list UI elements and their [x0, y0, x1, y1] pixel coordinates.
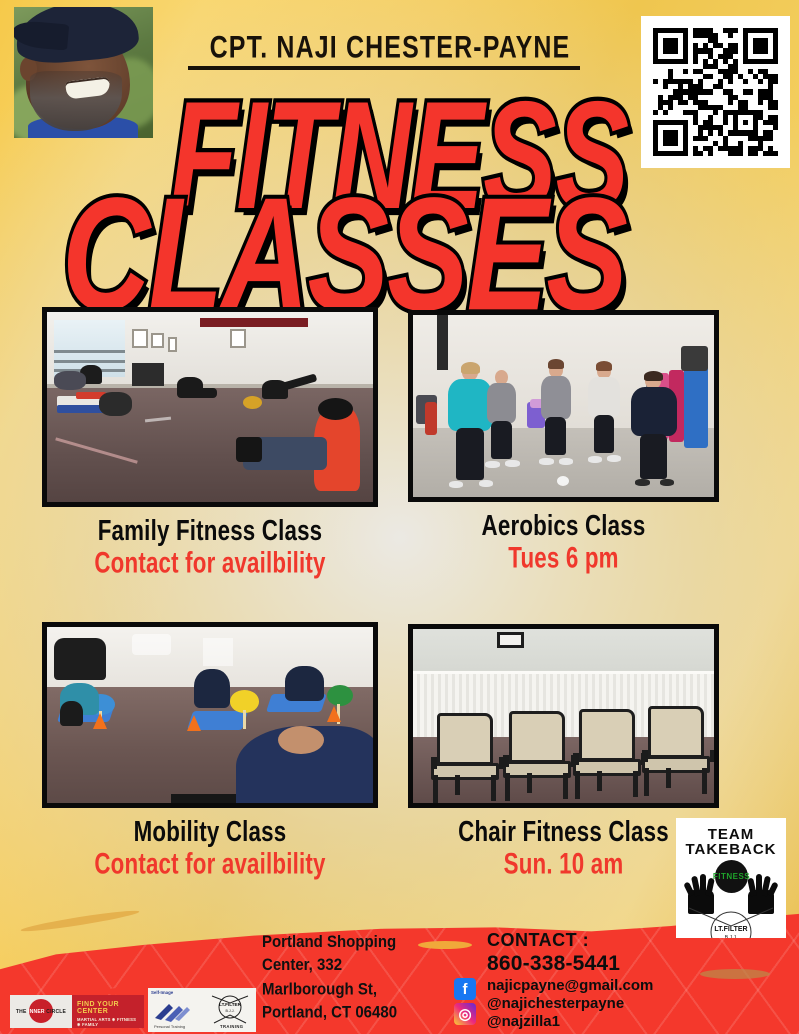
inner-circle-inner: INNER: [28, 1009, 45, 1015]
inner-circle-the: THE: [16, 1009, 28, 1015]
crest-outline-icon: LT.FILTER B.J.J. TRAINING: [687, 906, 775, 938]
class-caption: Mobility Class Contact for availbility: [42, 817, 378, 875]
address-block: Portland Shopping Center, 332 Marlboroug…: [262, 930, 442, 1024]
partner-right-sub: TRAINING: [220, 1024, 243, 1029]
partner-logo-left: Self-Image Personal Training: [148, 988, 202, 1032]
address-line-3: Marlborough St,: [262, 977, 442, 1000]
address-line-2: Center, 332: [262, 954, 442, 977]
inner-circle-tagline-1: FIND YOUR CENTER: [77, 1001, 140, 1015]
class-caption: Family Fitness Class Contact for availbi…: [42, 516, 378, 574]
qr-code[interactable]: [641, 16, 790, 168]
inner-circle-circle: CIRCLE: [45, 1009, 66, 1015]
partner-left-label: Self-Image: [151, 990, 173, 995]
partner-logo-right: LT.FILTER B.J.J. TRAINING: [202, 988, 256, 1032]
contact-phone[interactable]: 860-338-5441: [487, 952, 787, 976]
class-caption: Chair Fitness Class Sun. 10 am: [408, 817, 719, 875]
class-schedule: Contact for availbility: [54, 849, 366, 880]
family-fitness-photo: [42, 307, 378, 507]
instagram-icon[interactable]: ◎: [454, 1003, 476, 1025]
partner-left-sub: Personal Training: [154, 1024, 185, 1029]
class-card-chair-fitness: Chair Fitness Class Sun. 10 am: [408, 624, 719, 875]
class-schedule: Contact for availbility: [54, 548, 366, 579]
class-caption: Aerobics Class Tues 6 pm: [408, 511, 719, 569]
address-line-1: Portland Shopping: [262, 930, 442, 953]
fitness-classes-flyer: CPT. NAJI CHESTER-PAYNE FITNESS CLASSES: [0, 0, 799, 1034]
address-line-4: Portland, CT 06480: [262, 1001, 442, 1024]
contact-block: CONTACT : 860-338-5441 najicpayne@gmail.…: [487, 930, 787, 1030]
page-subtitle: CPT. NAJI CHESTER-PAYNE: [164, 28, 615, 66]
partner-right-crest-icon: LT.FILTER B.J.J.: [210, 993, 250, 1027]
team-takeback-line2: TAKEBACK: [676, 841, 786, 858]
contact-instagram-handle[interactable]: @najzilla1: [487, 1013, 787, 1030]
class-schedule: Sun. 10 am: [419, 849, 708, 880]
chair-fitness-photo: [408, 624, 719, 808]
contact-email[interactable]: najicpayne@gmail.com: [487, 977, 787, 994]
partner-logos: Self-Image Personal Training LT.FILTER B…: [148, 988, 256, 1032]
class-name: Family Fitness Class: [54, 516, 366, 547]
class-name: Mobility Class: [54, 817, 366, 848]
instructor-portrait: [14, 7, 153, 138]
class-schedule: Tues 6 pm: [419, 543, 708, 574]
qr-code-grid: [653, 28, 778, 156]
team-takeback-logo: TEAM TAKEBACK FITNESS LT.FILTER B.J.J. T…: [676, 818, 786, 938]
inner-circle-logo: THE INNER CIRCLE FIND YOUR CENTER MARTIA…: [10, 995, 144, 1028]
social-icons: f ◎: [454, 978, 480, 1028]
facebook-icon[interactable]: f: [454, 978, 476, 1000]
inner-circle-tagline-2: MARTIAL ARTS ✱ FITNESS ✱ FAMILY: [77, 1017, 140, 1027]
class-card-mobility: Mobility Class Contact for availbility: [42, 622, 378, 875]
class-name: Chair Fitness Class: [419, 817, 708, 848]
svg-text:B.J.J.: B.J.J.: [226, 1009, 235, 1013]
mobility-photo: [42, 622, 378, 808]
class-name: Aerobics Class: [419, 511, 708, 542]
aerobics-photo: [408, 310, 719, 502]
contact-facebook-handle[interactable]: @najichesterpayne: [487, 995, 787, 1012]
svg-text:LT.FILTER: LT.FILTER: [219, 1002, 241, 1007]
svg-text:LT.FILTER: LT.FILTER: [714, 926, 747, 933]
partner-left-mark-icon: [151, 998, 195, 1024]
svg-text:B.J.J.: B.J.J.: [725, 935, 738, 938]
class-card-aerobics: Aerobics Class Tues 6 pm: [408, 310, 719, 569]
class-card-family-fitness: Family Fitness Class Contact for availbi…: [42, 307, 378, 574]
